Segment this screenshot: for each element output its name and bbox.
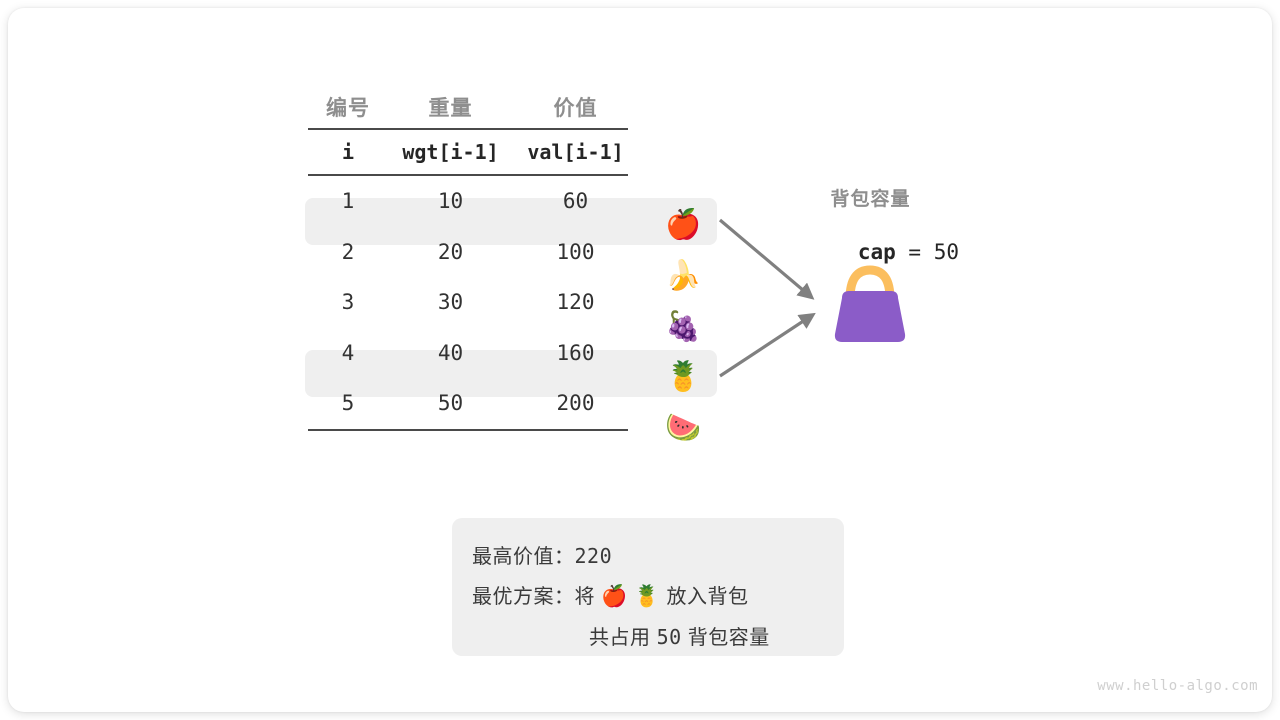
column-code-val: val[i-1]	[513, 130, 638, 174]
column-code-wgt: wgt[i-1]	[388, 130, 513, 174]
site-watermark: www.hello-algo.com	[1068, 678, 1258, 694]
table-header-cn-row: 编号 重量 价值	[308, 86, 638, 128]
column-header-index: 编号	[308, 86, 388, 128]
knapsack-items-table: 编号 重量 价值 i wgt[i-1] val[i-1]	[300, 86, 720, 431]
cell-index: 3	[308, 277, 388, 328]
result-occupied-value: 50	[657, 625, 682, 649]
result-plan-verb: 将	[575, 586, 596, 608]
figure-card: 编号 重量 价值 i wgt[i-1] val[i-1]	[8, 8, 1272, 712]
table-row: 2 20 100	[308, 227, 638, 278]
column-code-i: i	[308, 130, 388, 174]
table-row: 5 50 200	[308, 378, 638, 429]
cell-weight: 50	[388, 378, 513, 429]
table-row: 4 40 160	[308, 328, 638, 379]
bag-body	[835, 291, 905, 342]
result-best-value: 220	[575, 544, 613, 568]
cell-value: 200	[513, 378, 638, 429]
handbag-icon	[820, 254, 920, 354]
watermelon-icon: 🍉	[655, 414, 711, 443]
result-occupied-suffix: 背包容量	[688, 627, 770, 649]
cell-value: 120	[513, 277, 638, 328]
result-best-plan-line: 最优方案：将 🍎 🍍 放入背包	[472, 577, 844, 617]
cell-index: 5	[308, 378, 388, 429]
arrow-row4-to-bag	[720, 316, 811, 376]
table-row: 3 30 120	[308, 277, 638, 328]
result-summary-box: 最高价值：220 最优方案：将 🍎 🍍 放入背包 共占用 50 背包容量	[452, 518, 844, 656]
illustration-canvas: 编号 重量 价值 i wgt[i-1] val[i-1]	[0, 0, 1280, 720]
cell-value: 100	[513, 227, 638, 278]
result-plan-tail: 放入背包	[667, 586, 749, 608]
apple-icon: 🍎	[601, 585, 628, 608]
result-best-value-line: 最高价值：220	[472, 536, 844, 577]
result-best-value-label: 最高价值：	[472, 546, 575, 568]
table-rule-bottom-row	[308, 429, 638, 431]
result-best-plan-label: 最优方案：	[472, 586, 575, 608]
table-row: 1 10 60	[308, 176, 638, 227]
table-rule-bottom	[308, 429, 628, 431]
cell-weight: 30	[388, 277, 513, 328]
column-header-value: 价值	[513, 86, 638, 128]
cell-weight: 20	[388, 227, 513, 278]
cell-weight: 40	[388, 328, 513, 379]
pineapple-icon: 🍍	[634, 585, 661, 608]
cell-value: 60	[513, 176, 638, 227]
cell-index: 4	[308, 328, 388, 379]
result-occupied-line: 共占用 50 背包容量	[472, 617, 844, 658]
result-occupied-prefix: 共占用	[589, 627, 651, 649]
cell-index: 2	[308, 227, 388, 278]
cap-value: 50	[934, 240, 959, 264]
column-header-weight: 重量	[388, 86, 513, 128]
cell-index: 1	[308, 176, 388, 227]
cell-weight: 10	[388, 176, 513, 227]
cell-value: 160	[513, 328, 638, 379]
knapsack-capacity-label: 背包容量	[768, 184, 973, 211]
table-header-code-row: i wgt[i-1] val[i-1]	[308, 130, 638, 174]
